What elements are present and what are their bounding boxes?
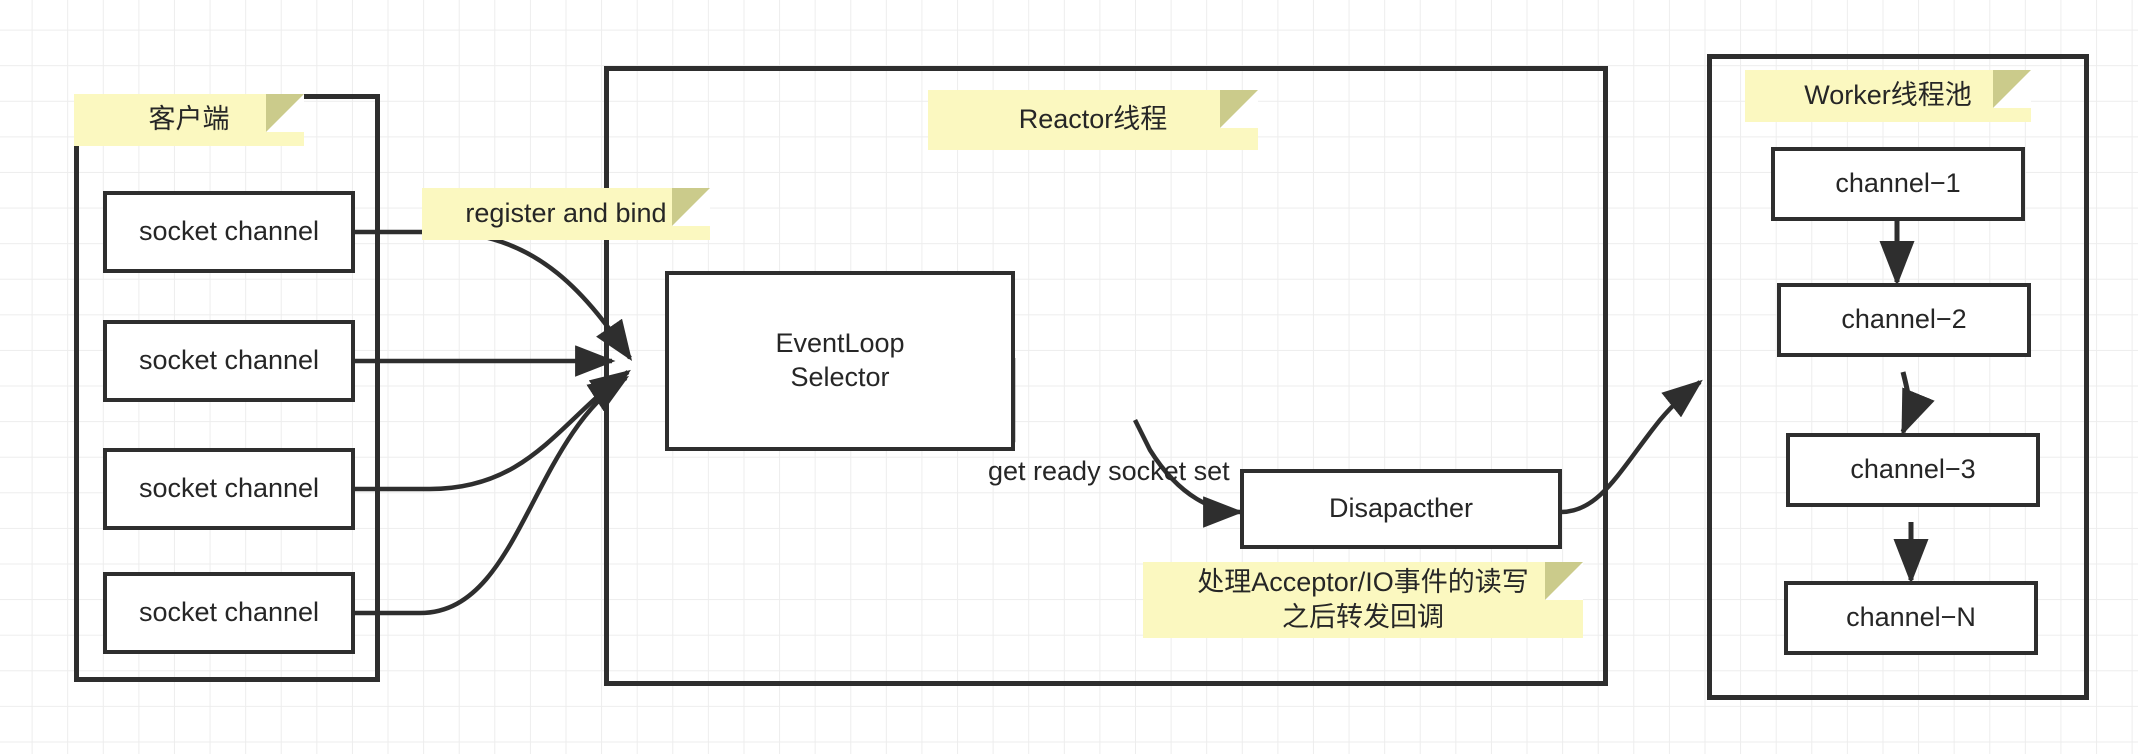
worker-channel-1[interactable]: channel−1 [1771, 147, 2025, 221]
edge-client-to-eventloop [355, 232, 630, 613]
worker-channel-4-label: channel−N [1846, 601, 1976, 635]
sticky-fold-corner-icon [1993, 70, 2031, 108]
client-socket-channel-4-label: socket channel [139, 596, 319, 630]
worker-pool-title-label: Worker线程池 [1804, 78, 1972, 113]
worker-channel-3[interactable]: channel−3 [1786, 433, 2040, 507]
diagram-canvas: 客户端 socket channel socket channel socket… [0, 0, 2138, 754]
client-socket-channel-3[interactable]: socket channel [103, 448, 355, 530]
get-ready-socket-set-text: get ready socket set [988, 456, 1230, 486]
client-title-sticky: 客户端 [74, 94, 304, 146]
worker-pool-title-sticky: Worker线程池 [1745, 70, 2031, 122]
reactor-title-label: Reactor线程 [1019, 102, 1168, 137]
client-title-label: 客户端 [149, 102, 230, 137]
eventloop-selector-node[interactable]: EventLoop Selector [665, 271, 1015, 451]
worker-channel-2[interactable]: channel−2 [1777, 283, 2031, 357]
client-socket-channel-1-label: socket channel [139, 215, 319, 249]
sticky-fold-corner-icon [1220, 90, 1258, 128]
dispatcher-note-sticky: 处理Acceptor/IO事件的读写 之后转发回调 [1143, 562, 1583, 638]
reactor-title-sticky: Reactor线程 [928, 90, 1258, 150]
register-and-bind-sticky: register and bind [422, 188, 710, 240]
client-socket-channel-2[interactable]: socket channel [103, 320, 355, 402]
eventloop-selector-label: EventLoop Selector [775, 327, 904, 395]
sticky-fold-corner-icon [672, 188, 710, 226]
sticky-fold-corner-icon [266, 94, 304, 132]
client-socket-channel-4[interactable]: socket channel [103, 572, 355, 654]
client-socket-channel-1[interactable]: socket channel [103, 191, 355, 273]
worker-channel-4[interactable]: channel−N [1784, 581, 2038, 655]
worker-channel-2-label: channel−2 [1841, 303, 1966, 337]
dispatcher-note-label: 处理Acceptor/IO事件的读写 之后转发回调 [1197, 565, 1529, 635]
dispatcher-label: Disapacther [1329, 492, 1473, 526]
client-socket-channel-2-label: socket channel [139, 344, 319, 378]
dispatcher-node[interactable]: Disapacther [1240, 469, 1562, 549]
register-and-bind-label: register and bind [465, 196, 666, 231]
client-socket-channel-3-label: socket channel [139, 472, 319, 506]
sticky-fold-corner-icon [1545, 562, 1583, 600]
worker-channel-1-label: channel−1 [1835, 167, 1960, 201]
worker-channel-3-label: channel−3 [1850, 453, 1975, 487]
